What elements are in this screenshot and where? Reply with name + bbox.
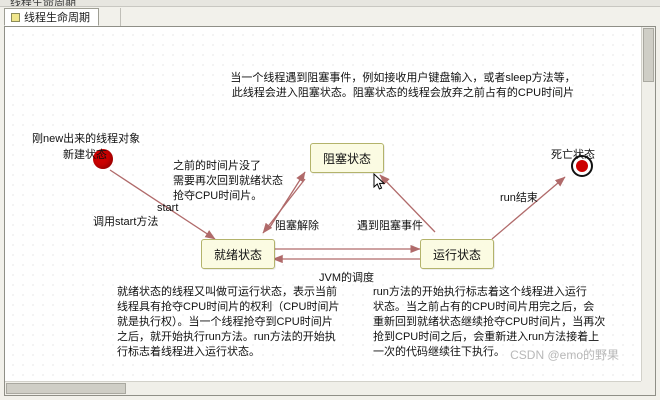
diagram-file-icon — [11, 13, 20, 22]
annotation-ready-note: 就绪状态的线程又叫做可运行状态，表示当前 线程具有抢夺CPU时间片的权利（CPU… — [117, 285, 367, 360]
annotation-call-start-note: 调用start方法 — [93, 215, 158, 230]
vertical-scrollbar[interactable] — [641, 27, 655, 381]
mouse-cursor — [373, 173, 385, 191]
window-title: 线程生命周期 — [10, 0, 76, 7]
application-window: 线程生命周期 线程生命周期 — [0, 0, 660, 400]
node-ready-label: 就绪状态 — [214, 246, 262, 263]
tab-divider — [120, 8, 121, 26]
horizontal-scrollbar-thumb[interactable] — [6, 383, 126, 394]
diagram-canvas-container: 阻塞状态 就绪状态 运行状态 当一个线程遇到阻塞事件，例如接收用户键盘输入，或者… — [4, 26, 656, 396]
vertical-scrollbar-thumb[interactable] — [643, 28, 654, 82]
edge-label-start: start — [157, 202, 178, 214]
node-blocked-state[interactable]: 阻塞状态 — [310, 143, 384, 173]
annotation-blocked-left-note: 之前的时间片没了 需要再次回到就绪状态 抢夺CPU时间片。 — [173, 159, 308, 204]
tab-bar: 线程生命周期 — [0, 7, 660, 27]
watermark: CSDN @emo的野果 — [510, 346, 619, 363]
edge-label-run-end: run结束 — [500, 189, 538, 205]
node-running-state[interactable]: 运行状态 — [420, 239, 494, 269]
scrollbar-corner — [641, 381, 655, 395]
label-dead-state: 死亡状态 — [551, 148, 595, 163]
tab-label: 线程生命周期 — [24, 9, 90, 25]
diagram-canvas[interactable]: 阻塞状态 就绪状态 运行状态 当一个线程遇到阻塞事件，例如接收用户键盘输入，或者… — [5, 27, 641, 381]
annotation-new-object-note: 刚new出来的线程对象 — [32, 132, 140, 147]
annotation-top-note: 当一个线程遇到阻塞事件，例如接收用户键盘输入，或者sleep方法等， 此线程会进… — [203, 71, 603, 101]
node-running-label: 运行状态 — [433, 246, 481, 263]
edge-label-block: 遇到阻塞事件 — [357, 217, 423, 233]
window-title-strip: 线程生命周期 — [0, 0, 660, 7]
edge-label-jvm-schedule: JVM的调度 — [319, 269, 374, 285]
tab-thread-lifecycle[interactable]: 线程生命周期 — [4, 8, 99, 26]
edge-label-unblock: 阻塞解除 — [275, 217, 319, 233]
node-blocked-label: 阻塞状态 — [323, 150, 371, 167]
horizontal-scrollbar[interactable] — [5, 381, 641, 395]
label-new-state: 新建状态 — [63, 148, 107, 163]
node-ready-state[interactable]: 就绪状态 — [201, 239, 275, 269]
